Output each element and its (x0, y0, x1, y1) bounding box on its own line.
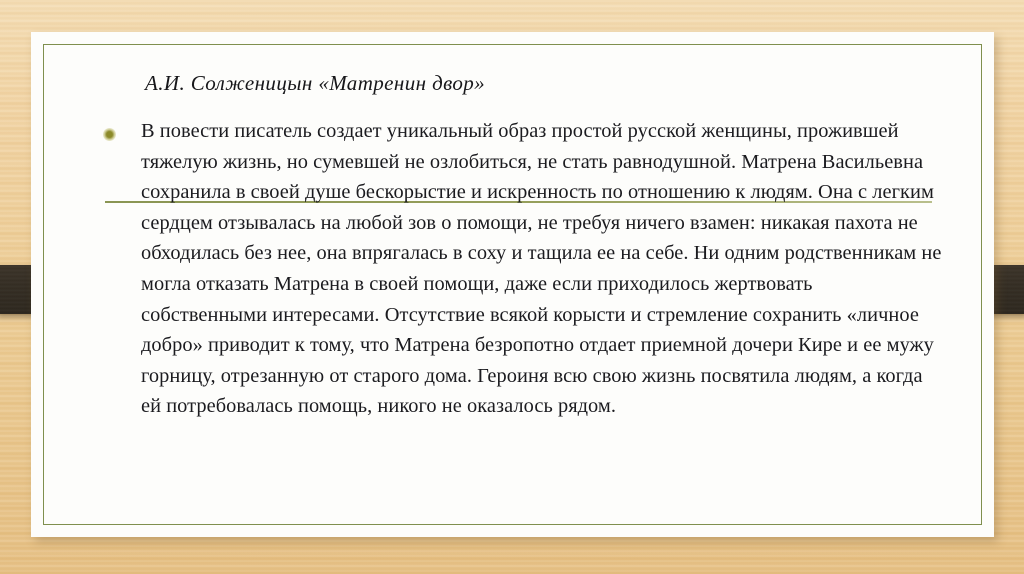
body-bullet-block: В повести писатель создает уникальный об… (103, 116, 943, 422)
slide-title: А.И. Солженицын «Матренин двор» (145, 71, 485, 96)
body-paragraph: В повести писатель создает уникальный об… (103, 116, 943, 422)
slide-panel: А.И. Солженицын «Матренин двор» В повест… (31, 32, 994, 537)
presentation-slide: А.И. Солженицын «Матренин двор» В повест… (0, 0, 1024, 574)
slide-content: А.И. Солженицын «Матренин двор» В повест… (31, 32, 994, 537)
bullet-dot-icon (103, 128, 116, 141)
